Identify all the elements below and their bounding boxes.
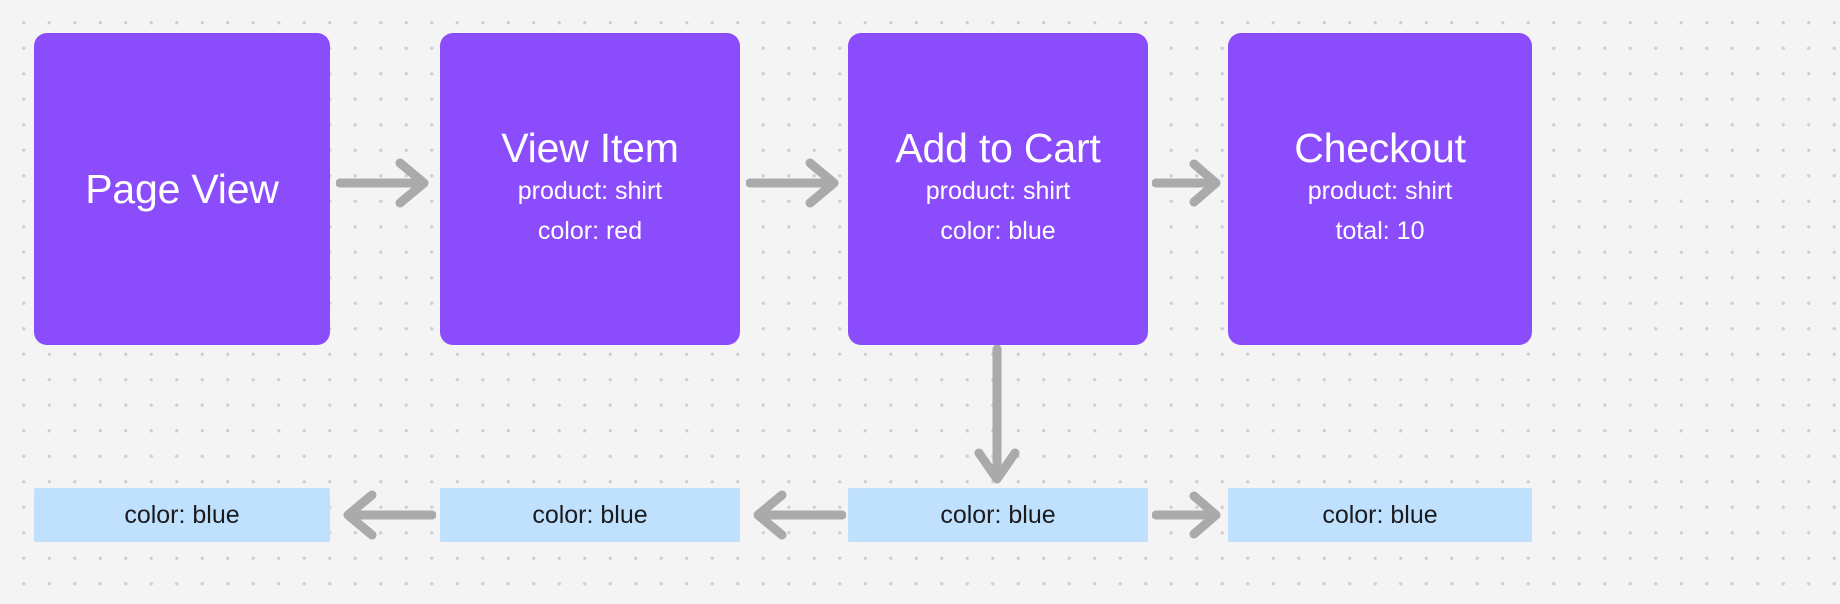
arrow-right-icon [746, 158, 844, 208]
node-property: color: red [538, 211, 642, 252]
node-add-to-cart[interactable]: Add to Cart product: shirt color: blue [848, 33, 1148, 345]
node-title: Add to Cart [895, 126, 1100, 170]
pill-color-blue-3[interactable]: color: blue [848, 488, 1148, 542]
pill-label: color: blue [940, 503, 1055, 528]
node-checkout[interactable]: Checkout product: shirt total: 10 [1228, 33, 1532, 345]
node-property: total: 10 [1336, 211, 1425, 252]
pill-label: color: blue [124, 503, 239, 528]
arrow-left-icon [746, 490, 846, 540]
arrow-right-icon [336, 158, 434, 208]
node-property: product: shirt [518, 171, 663, 212]
node-page-view[interactable]: Page View [34, 33, 330, 345]
node-title: Checkout [1294, 126, 1466, 170]
node-view-item[interactable]: View Item product: shirt color: red [440, 33, 740, 345]
arrow-right-icon [1152, 490, 1226, 540]
arrow-right-icon [1152, 158, 1226, 208]
pill-color-blue-1[interactable]: color: blue [34, 488, 330, 542]
node-title: Page View [85, 167, 278, 211]
pill-color-blue-2[interactable]: color: blue [440, 488, 740, 542]
pill-label: color: blue [532, 503, 647, 528]
node-title: View Item [501, 126, 678, 170]
pill-color-blue-4[interactable]: color: blue [1228, 488, 1532, 542]
node-property: product: shirt [1308, 171, 1453, 212]
flow-canvas[interactable]: Page View View Item product: shirt color… [0, 0, 1840, 604]
node-property: color: blue [940, 211, 1055, 252]
pill-label: color: blue [1322, 503, 1437, 528]
arrow-down-icon [972, 345, 1022, 489]
node-property: product: shirt [926, 171, 1071, 212]
arrow-left-icon [336, 490, 436, 540]
